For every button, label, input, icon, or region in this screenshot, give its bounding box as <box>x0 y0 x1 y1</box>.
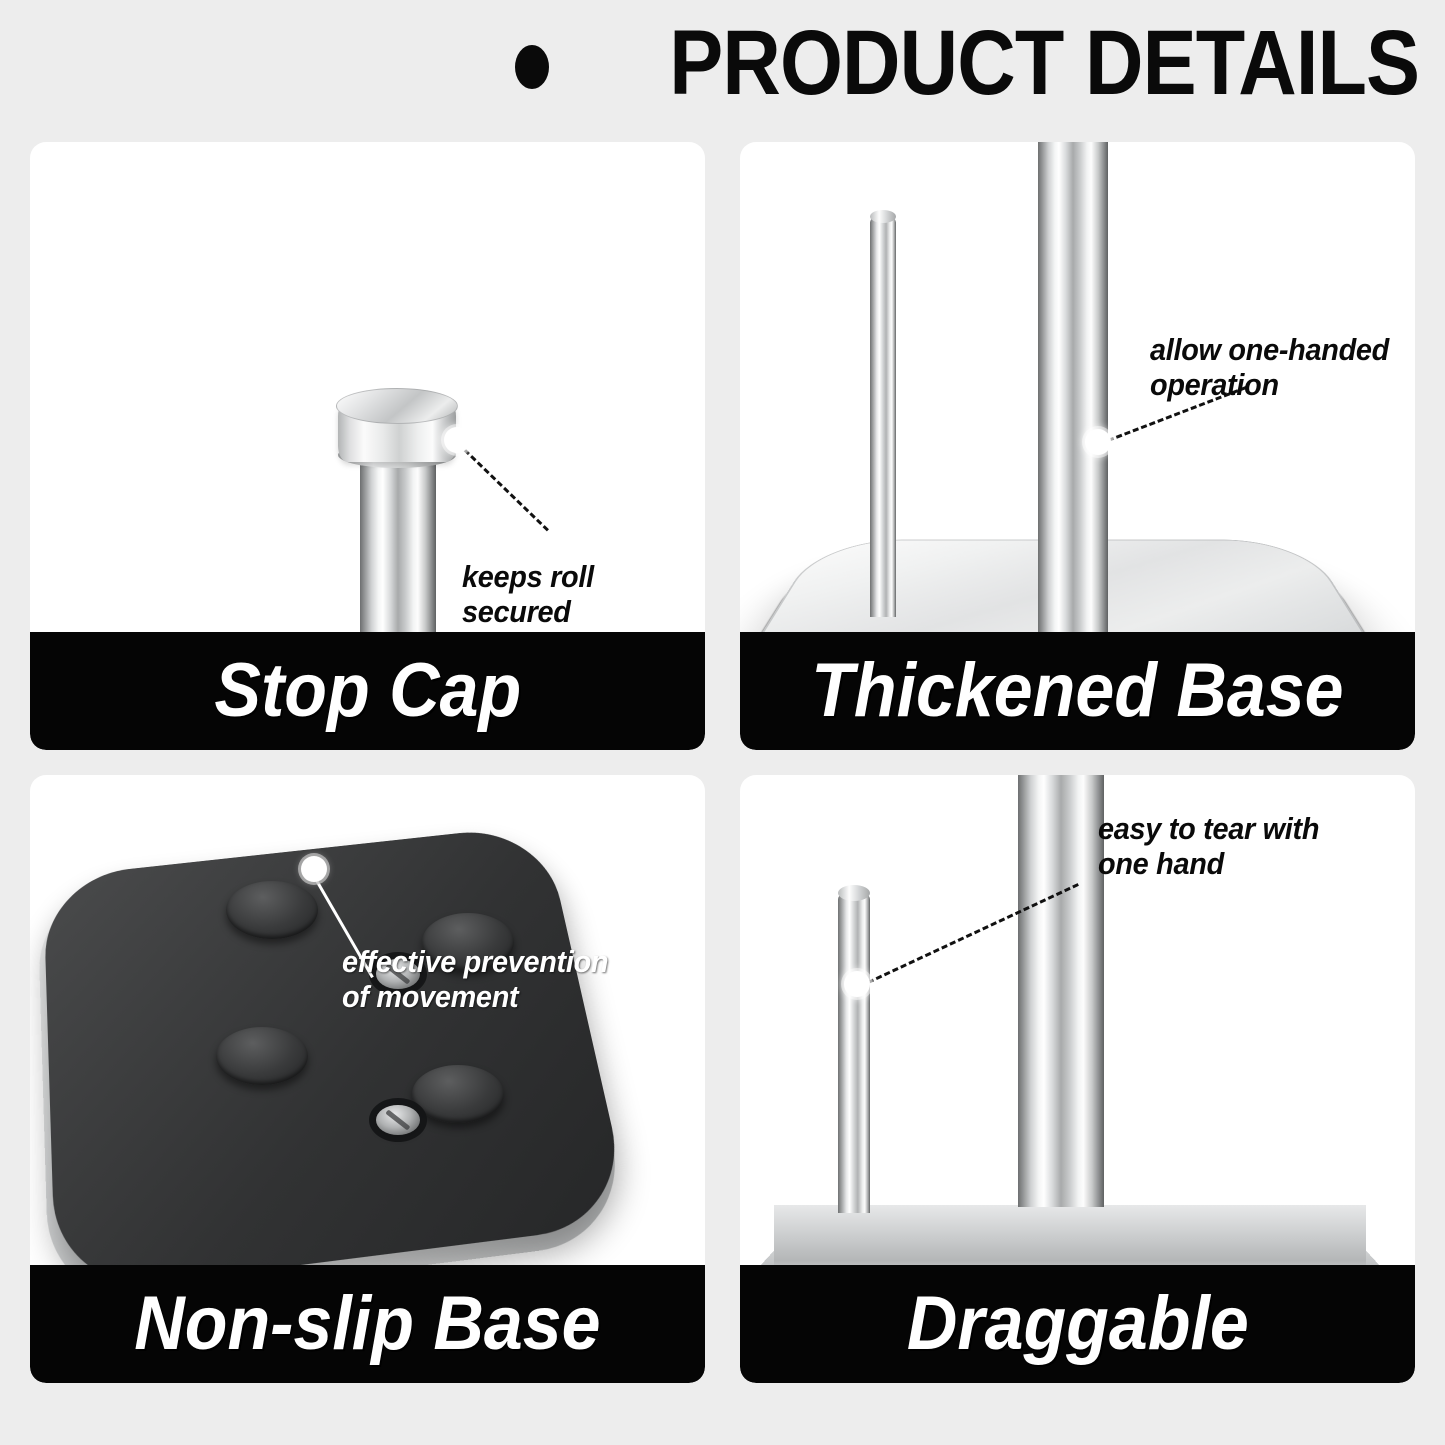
side-rod-cap <box>870 210 896 223</box>
rubber-foot <box>226 881 318 939</box>
banner-non-slip-base: Non-slip Base <box>30 1265 705 1383</box>
page-title: PRODUCT DETAILS <box>669 20 1419 107</box>
banner-thickened-base: Thickened Base <box>740 632 1415 750</box>
bullet-dot-icon <box>515 45 549 89</box>
callout-marker <box>444 427 470 453</box>
callout-keeps-roll-secured: keeps roll secured <box>462 559 688 629</box>
banner-label: Thickened Base <box>811 653 1343 729</box>
cap-top-face <box>336 388 458 424</box>
panel-non-slip-base[interactable]: effective prevention of movement Non-sli… <box>30 775 705 1383</box>
page-header: PRODUCT DETAILS <box>0 0 1445 128</box>
center-post <box>1018 775 1104 1207</box>
callout-marker <box>844 971 870 997</box>
side-rod <box>838 893 870 1213</box>
callout-one-handed-operation: allow one-handed operation <box>1150 332 1389 402</box>
callout-effective-prevention: effective prevention of movement <box>342 944 608 1014</box>
banner-stop-cap: Stop Cap <box>30 632 705 750</box>
side-rod <box>870 217 896 617</box>
rubber-foot <box>412 1065 504 1123</box>
rubber-foot <box>216 1027 308 1085</box>
rubber-pad <box>43 824 634 1296</box>
banner-label: Stop Cap <box>214 653 521 729</box>
callout-marker <box>301 856 327 882</box>
banner-label: Non-slip Base <box>134 1286 600 1362</box>
page-title-wrap: PRODUCT DETAILS <box>515 20 1419 107</box>
product-details-grid: keeps roll secured Stop Cap allow one-ha… <box>30 142 1415 1400</box>
banner-draggable: Draggable <box>740 1265 1415 1383</box>
center-post <box>1038 142 1108 636</box>
banner-label: Draggable <box>907 1286 1249 1362</box>
panel-draggable[interactable]: easy to tear with one hand Draggable <box>740 775 1415 1383</box>
screw-head <box>376 1105 420 1135</box>
panel-thickened-base[interactable]: allow one-handed operation Thickened Bas… <box>740 142 1415 750</box>
panel-stop-cap[interactable]: keeps roll secured Stop Cap <box>30 142 705 750</box>
side-rod-cap <box>838 885 870 901</box>
callout-easy-to-tear: easy to tear with one hand <box>1098 811 1319 881</box>
callout-leader-line <box>457 442 549 531</box>
callout-marker <box>1085 429 1111 455</box>
